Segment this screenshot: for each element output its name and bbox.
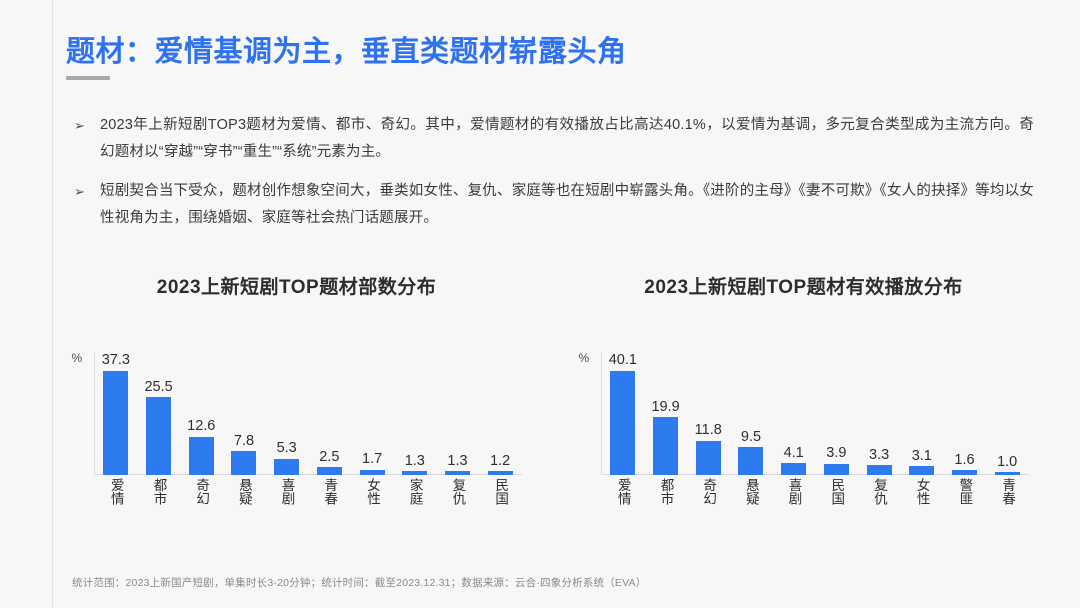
bar bbox=[781, 463, 806, 475]
x-axis-label: 喜剧 bbox=[280, 478, 294, 505]
x-axis-label-slot: 奇幻 bbox=[180, 478, 223, 505]
x-axis-label: 警匪 bbox=[958, 478, 972, 505]
bar-series: 37.325.512.67.85.32.51.71.31.31.2 bbox=[95, 353, 522, 475]
x-axis-label: 复仇 bbox=[451, 478, 465, 505]
bar-slot: 1.0 bbox=[986, 353, 1029, 475]
left-vertical-rule bbox=[52, 0, 53, 608]
bullet-list: ➢ 2023年上新短剧TOP3题材为爱情、都市、奇幻。其中，爱情题材的有效播放占… bbox=[74, 112, 1034, 244]
bar-slot: 5.3 bbox=[265, 353, 308, 475]
bar-slot: 4.1 bbox=[772, 353, 815, 475]
bar-value-label: 1.3 bbox=[447, 454, 467, 469]
x-axis-label: 青春 bbox=[1000, 478, 1014, 505]
bar-slot: 3.1 bbox=[900, 353, 943, 475]
bar-value-label: 9.5 bbox=[741, 430, 761, 445]
bar-slot: 40.1 bbox=[602, 353, 645, 475]
x-axis-label-slot: 警匪 bbox=[943, 478, 986, 505]
x-axis-label: 女性 bbox=[915, 478, 929, 505]
x-axis-label-slot: 复仇 bbox=[436, 478, 479, 505]
x-axis-label-slot: 女性 bbox=[900, 478, 943, 505]
bar-slot: 1.3 bbox=[393, 353, 436, 475]
bar-slot: 37.3 bbox=[95, 353, 138, 475]
bullet-item: ➢ 短剧契合当下受众，题材创作想象空间大，垂类如女性、复仇、家庭等也在短剧中崭露… bbox=[74, 178, 1034, 232]
bar-slot: 25.5 bbox=[137, 353, 180, 475]
bar-slot: 3.3 bbox=[858, 353, 901, 475]
x-axis-label-slot: 家庭 bbox=[393, 478, 436, 505]
x-axis-label: 悬疑 bbox=[744, 478, 758, 505]
x-axis-label: 悬疑 bbox=[237, 478, 251, 505]
bar-value-label: 1.6 bbox=[954, 453, 974, 468]
slide-canvas: 题材：爱情基调为主，垂直类题材崭露头角 ➢ 2023年上新短剧TOP3题材为爱情… bbox=[0, 0, 1080, 608]
x-axis-label: 奇幻 bbox=[194, 478, 208, 505]
bar bbox=[610, 371, 635, 476]
bar-value-label: 5.3 bbox=[277, 441, 297, 456]
x-axis-label-slot: 复仇 bbox=[858, 478, 901, 505]
bar bbox=[696, 441, 721, 475]
x-axis-label: 女性 bbox=[365, 478, 379, 505]
x-axis-label-slot: 爱情 bbox=[95, 478, 138, 505]
chart-card-episode-count: 2023上新短剧TOP题材部数分布 % 37.325.512.67.85.32.… bbox=[66, 272, 527, 508]
bar-value-label: 3.1 bbox=[912, 449, 932, 464]
bar-value-label: 1.0 bbox=[997, 455, 1017, 470]
arrow-bullet-icon: ➢ bbox=[74, 112, 100, 139]
x-axis-label: 青春 bbox=[322, 478, 336, 505]
bar-value-label: 4.1 bbox=[784, 446, 804, 461]
bar-value-label: 7.8 bbox=[234, 434, 254, 449]
bar-slot: 12.6 bbox=[180, 353, 223, 475]
page-title: 题材：爱情基调为主，垂直类题材崭露头角 bbox=[66, 36, 627, 69]
bar-slot: 7.8 bbox=[223, 353, 266, 475]
bar-slot: 2.5 bbox=[308, 353, 351, 475]
x-axis-label-slot: 青春 bbox=[308, 478, 351, 505]
x-axis-label-slot: 都市 bbox=[137, 478, 180, 505]
bar bbox=[274, 459, 299, 475]
x-axis-label: 复仇 bbox=[872, 478, 886, 505]
bar bbox=[824, 464, 849, 475]
x-axis-label: 民国 bbox=[493, 478, 507, 505]
bar-value-label: 37.3 bbox=[102, 353, 130, 368]
bar-slot: 1.2 bbox=[479, 353, 522, 475]
bullet-item: ➢ 2023年上新短剧TOP3题材为爱情、都市、奇幻。其中，爱情题材的有效播放占… bbox=[74, 112, 1034, 166]
bar-slot: 3.9 bbox=[815, 353, 858, 475]
x-axis-label: 奇幻 bbox=[701, 478, 715, 505]
y-axis-unit-label: % bbox=[579, 351, 590, 365]
x-axis-label-slot: 悬疑 bbox=[730, 478, 773, 505]
bar bbox=[738, 447, 763, 475]
bar-slot: 9.5 bbox=[730, 353, 773, 475]
arrow-bullet-icon: ➢ bbox=[74, 178, 100, 205]
x-axis-label: 家庭 bbox=[408, 478, 422, 505]
bar-slot: 19.9 bbox=[644, 353, 687, 475]
x-axis-label-slot: 都市 bbox=[644, 478, 687, 505]
bar-value-label: 19.9 bbox=[651, 400, 679, 415]
x-axis-label-slot: 悬疑 bbox=[223, 478, 266, 505]
x-axis-label: 爱情 bbox=[109, 478, 123, 505]
charts-row: 2023上新短剧TOP题材部数分布 % 37.325.512.67.85.32.… bbox=[66, 272, 1034, 508]
chart-card-effective-play: 2023上新短剧TOP题材有效播放分布 % 40.119.911.89.54.1… bbox=[573, 272, 1034, 508]
bar-value-label: 3.9 bbox=[826, 446, 846, 461]
bar bbox=[146, 397, 171, 475]
title-underline bbox=[66, 76, 110, 80]
bullet-text: 2023年上新短剧TOP3题材为爱情、都市、奇幻。其中，爱情题材的有效播放占比高… bbox=[100, 112, 1034, 166]
bar-slot: 1.6 bbox=[943, 353, 986, 475]
bar bbox=[909, 466, 934, 475]
x-axis-labels: 爱情都市奇幻悬疑喜剧民国复仇女性警匪青春 bbox=[602, 475, 1029, 508]
bar-chart-effective-play: % 40.119.911.89.54.13.93.33.11.61.0 爱情都市… bbox=[579, 333, 1029, 508]
x-axis-label-slot: 女性 bbox=[351, 478, 394, 505]
bar bbox=[231, 451, 256, 475]
bar-value-label: 2.5 bbox=[319, 450, 339, 465]
bar-value-label: 12.6 bbox=[187, 419, 215, 434]
bar-chart-episode-count: % 37.325.512.67.85.32.51.71.31.31.2 爱情都市… bbox=[72, 333, 522, 508]
bar-value-label: 3.3 bbox=[869, 448, 889, 463]
bar-value-label: 1.7 bbox=[362, 452, 382, 467]
x-axis-label: 都市 bbox=[659, 478, 673, 505]
bar-slot: 1.7 bbox=[351, 353, 394, 475]
bar-series: 40.119.911.89.54.13.93.33.11.61.0 bbox=[602, 353, 1029, 475]
bullet-text: 短剧契合当下受众，题材创作想象空间大，垂类如女性、复仇、家庭等也在短剧中崭露头角… bbox=[100, 178, 1034, 232]
bar-slot: 11.8 bbox=[687, 353, 730, 475]
x-axis-label: 爱情 bbox=[616, 478, 630, 505]
bar bbox=[867, 465, 892, 475]
bar-slot: 1.3 bbox=[436, 353, 479, 475]
x-axis-label-slot: 青春 bbox=[986, 478, 1029, 505]
x-axis-label-slot: 民国 bbox=[479, 478, 522, 505]
x-axis-label: 民国 bbox=[829, 478, 843, 505]
x-axis-labels: 爱情都市奇幻悬疑喜剧青春女性家庭复仇民国 bbox=[95, 475, 522, 508]
x-axis-label: 喜剧 bbox=[787, 478, 801, 505]
bar-value-label: 1.2 bbox=[490, 454, 510, 469]
bar-value-label: 11.8 bbox=[695, 423, 722, 438]
title-block: 题材：爱情基调为主，垂直类题材崭露头角 bbox=[66, 36, 627, 80]
bar bbox=[317, 467, 342, 475]
x-axis-label: 都市 bbox=[152, 478, 166, 505]
bar bbox=[189, 437, 214, 475]
y-axis-unit-label: % bbox=[72, 351, 83, 365]
x-axis-label-slot: 喜剧 bbox=[772, 478, 815, 505]
bar-value-label: 25.5 bbox=[144, 380, 172, 395]
chart-title: 2023上新短剧TOP题材部数分布 bbox=[157, 272, 436, 299]
x-axis-label-slot: 奇幻 bbox=[687, 478, 730, 505]
bar-value-label: 40.1 bbox=[609, 353, 637, 368]
bar bbox=[103, 371, 128, 476]
chart-title: 2023上新短剧TOP题材有效播放分布 bbox=[644, 272, 962, 299]
x-axis-label-slot: 爱情 bbox=[602, 478, 645, 505]
footnote: 统计范围：2023上新国产短剧，单集时长3-20分钟；统计时间：截至2023.1… bbox=[72, 575, 646, 590]
x-axis-label-slot: 喜剧 bbox=[265, 478, 308, 505]
bar-value-label: 1.3 bbox=[405, 454, 425, 469]
bar bbox=[653, 417, 678, 475]
x-axis-label-slot: 民国 bbox=[815, 478, 858, 505]
